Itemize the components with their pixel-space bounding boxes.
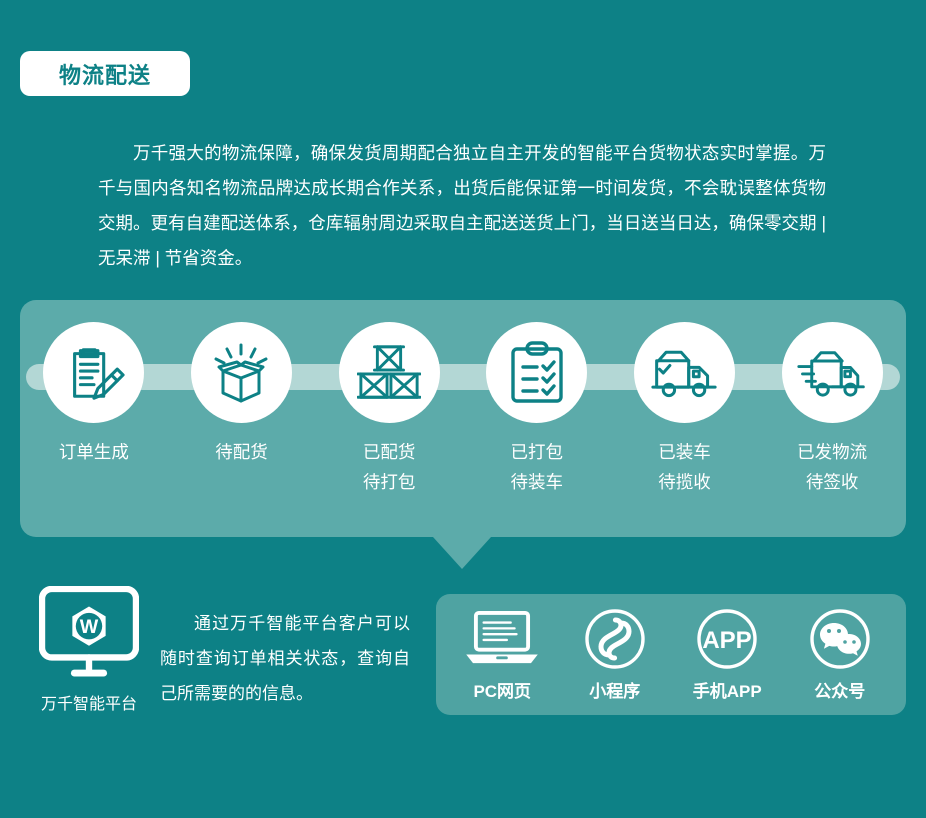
step-icon-bubble (782, 322, 883, 423)
channel-official-account[interactable]: 公众号 (788, 607, 892, 702)
open-box-icon (209, 341, 273, 405)
card-arrow-down-icon (433, 537, 491, 569)
monitor-w-logo-icon: W (39, 586, 139, 683)
step-label: 已配货 待打包 (363, 437, 416, 497)
step-shipped-awaiting-signature[interactable]: 已发物流 待签收 (767, 322, 897, 497)
intro-paragraph: 万千强大的物流保障，确保发货周期配合独立自主开发的智能平台货物状态实时掌握。万千… (98, 136, 826, 276)
laptop-icon (463, 607, 541, 671)
channel-pc-web[interactable]: PC网页 (450, 607, 554, 702)
channel-mini-program[interactable]: 小程序 (563, 607, 667, 702)
step-label: 已发物流 待签收 (797, 437, 867, 497)
step-label: 已打包 待装车 (511, 437, 564, 497)
steps-row: 订单生成 待配货 (20, 300, 906, 537)
mini-program-icon (583, 607, 647, 671)
channel-mobile-app[interactable]: APP 手机APP (675, 607, 779, 702)
app-circle-icon: APP (695, 607, 759, 671)
step-packed-awaiting-loading[interactable]: 已打包 待装车 (472, 322, 602, 497)
truck-check-icon (651, 347, 717, 399)
platform-description: 通过万千智能平台客户可以随时查询订单相关状态，查询自己所需要的的信息。 (160, 606, 410, 711)
step-icon-bubble (43, 322, 144, 423)
svg-text:W: W (80, 616, 99, 638)
step-label: 订单生成 (59, 437, 129, 467)
logistics-steps-card: 订单生成 待配货 (20, 300, 906, 537)
channel-label: 小程序 (589, 677, 640, 702)
step-label: 已装车 待揽收 (658, 437, 711, 497)
step-label: 待配货 (215, 437, 268, 467)
truck-speed-icon (797, 347, 867, 399)
platform-caption: 万千智能平台 (41, 690, 137, 714)
step-icon-bubble (339, 322, 440, 423)
channel-label: 手机APP (693, 677, 762, 702)
page-title: 物流配送 (59, 58, 151, 90)
step-loaded-awaiting-pickup[interactable]: 已装车 待揽收 (619, 322, 749, 497)
step-awaiting-allocation[interactable]: 待配货 (176, 322, 306, 467)
clipboard-pencil-icon (63, 342, 125, 404)
step-allocated-awaiting-packing[interactable]: 已配货 待打包 (324, 322, 454, 497)
page-title-badge: 物流配送 (20, 51, 190, 96)
platform-logo-block: W 万千智能平台 (36, 586, 142, 714)
crate-stack-icon (357, 344, 421, 402)
checklist-clipboard-icon (508, 341, 566, 405)
channel-label: 公众号 (814, 677, 865, 702)
step-order-created[interactable]: 订单生成 (29, 322, 159, 467)
step-icon-bubble (634, 322, 735, 423)
channels-panel: PC网页 小程序 APP 手机APP (436, 594, 906, 715)
wechat-bubbles-icon (808, 607, 872, 671)
channel-label: PC网页 (473, 677, 531, 702)
step-icon-bubble (191, 322, 292, 423)
app-glyph: APP (703, 627, 752, 654)
step-icon-bubble (486, 322, 587, 423)
